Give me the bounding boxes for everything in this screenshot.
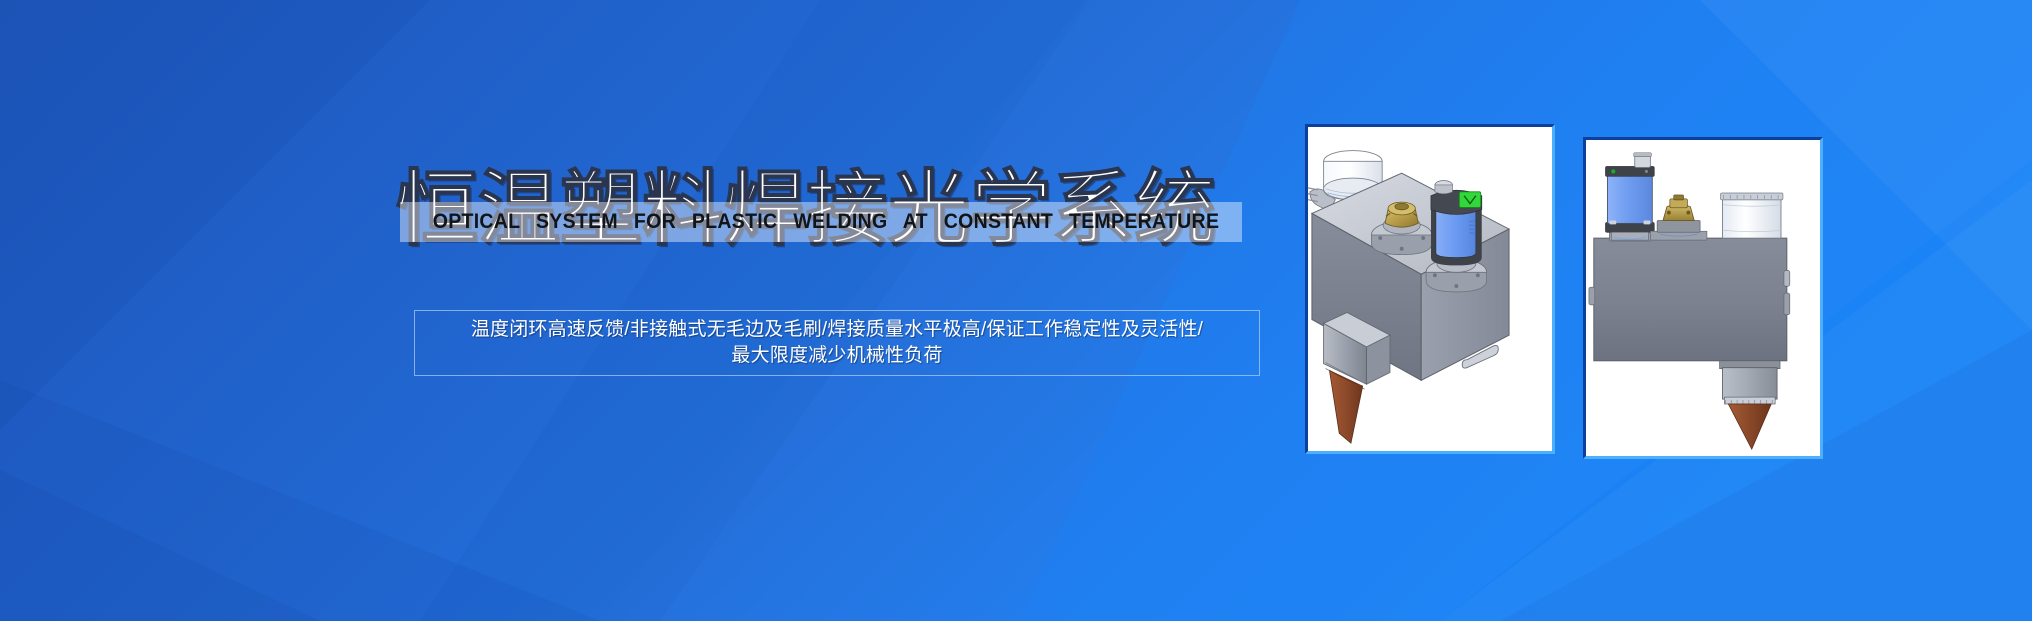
welding-head-isometric-render: [1308, 127, 1552, 451]
subtitle-line-1: 温度闭环高速反馈/非接触式无毛边及毛刷/焊接质量水平极高/保证工作稳定性及灵活性…: [471, 319, 1203, 340]
promo-banner: 恒温塑料焊接光学系统 OPTICAL SYSTEM FOR PLASTIC WE…: [0, 0, 2032, 621]
page-title-english: OPTICAL SYSTEM FOR PLASTIC WELDING AT CO…: [426, 204, 1226, 240]
subtitle-line-2: 最大限度减少机械性负荷: [731, 345, 942, 366]
product-image-welding-head-isometric[interactable]: [1305, 124, 1555, 454]
subtitle-box: 温度闭环高速反馈/非接触式无毛边及毛刷/焊接质量水平极高/保证工作稳定性及灵活性…: [414, 310, 1260, 376]
welding-head-front-render: [1586, 140, 1820, 456]
title-block: 恒温塑料焊接光学系统 OPTICAL SYSTEM FOR PLASTIC WE…: [396, 186, 1256, 250]
product-image-welding-head-front[interactable]: [1583, 137, 1823, 459]
subtitle-text: 温度闭环高速反馈/非接触式无毛边及毛刷/焊接质量水平极高/保证工作稳定性及灵活性…: [471, 317, 1203, 369]
